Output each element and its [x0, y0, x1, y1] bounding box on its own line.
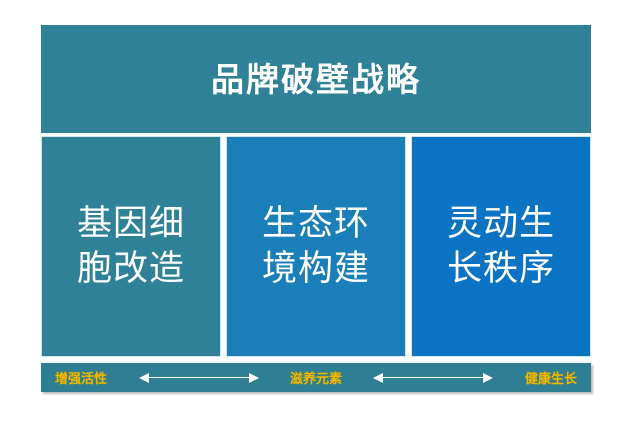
arrow-shaft — [148, 377, 250, 379]
pillar-label-3: 灵动生长秩序 — [443, 202, 559, 292]
pillar-label-2: 生态环境构建 — [258, 202, 374, 292]
arrow-head-right — [483, 373, 493, 383]
footer-label-3: 健康生长 — [525, 368, 577, 387]
header-band: 品牌破壁战略 — [41, 25, 591, 133]
slide-canvas: 品牌破壁战略 基因细胞改造 生态环境构建 灵动生长秩序 增强活性 滋养元素 健康… — [0, 0, 640, 429]
footer-flow-bar: 增强活性 滋养元素 健康生长 — [41, 363, 591, 392]
pillar-column-3[interactable]: 灵动生长秩序 — [411, 136, 591, 357]
pillar-column-1[interactable]: 基因细胞改造 — [41, 136, 221, 357]
double-headed-arrow-icon-1 — [139, 372, 259, 384]
pillar-label-1: 基因细胞改造 — [73, 202, 189, 292]
page-title: 品牌破壁战略 — [211, 63, 421, 96]
arrow-head-right — [249, 373, 259, 383]
footer-label-1: 增强活性 — [55, 368, 107, 387]
footer-label-2: 滋养元素 — [290, 368, 342, 387]
pillar-column-2[interactable]: 生态环境构建 — [226, 136, 406, 357]
pillar-columns: 基因细胞改造 生态环境构建 灵动生长秩序 — [41, 136, 591, 357]
arrow-shaft — [382, 377, 484, 379]
double-headed-arrow-icon-2 — [373, 372, 493, 384]
